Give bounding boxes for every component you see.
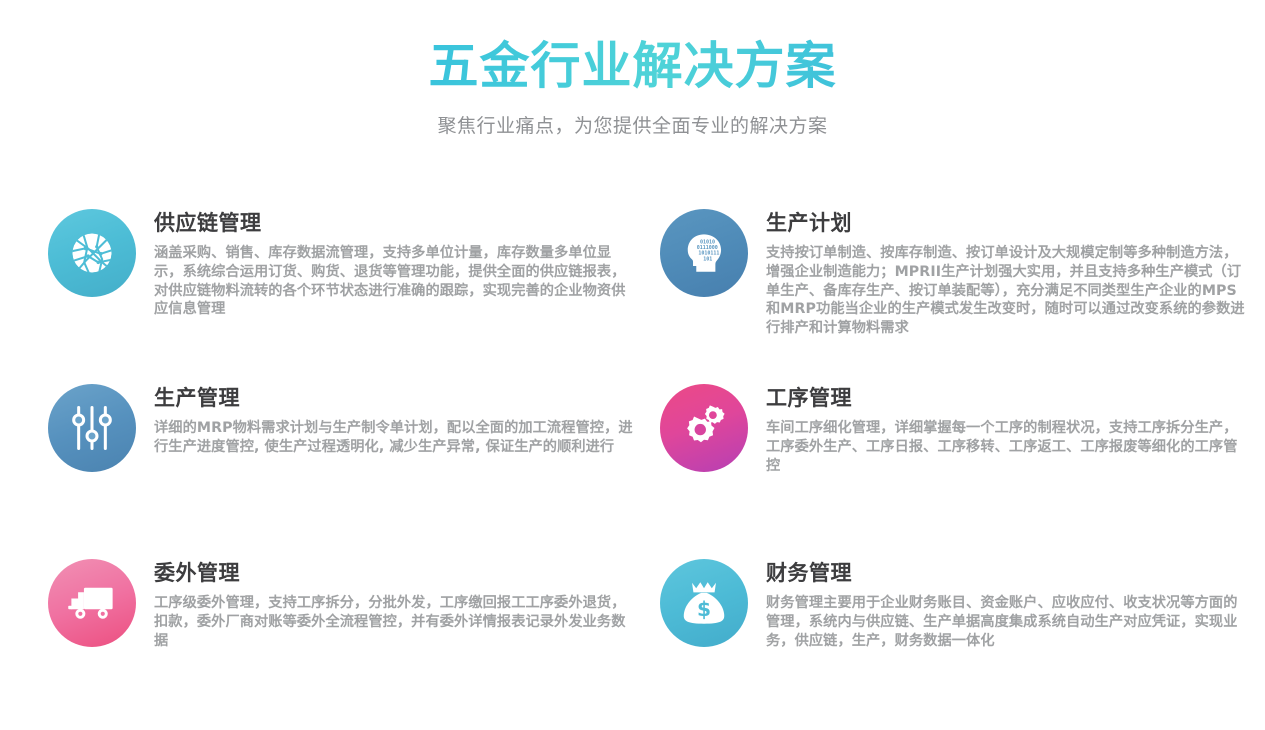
solution-card-description: 涵盖采购、销售、库存数据流管理，支持多单位计量，库存数量多单位显示，系统综合运用… [154,244,636,319]
svg-text:101: 101 [703,256,712,262]
solution-card-description: 车间工序细化管理，详细掌握每一个工序的制程状况，支持工序拆分生产，工序委外生产、… [766,419,1248,475]
sliders-icon [48,384,136,472]
solution-card-body: 财务管理 财务管理主要用于企业财务账目、资金账户、应收应付、收支状况等方面的管理… [766,555,1248,650]
solution-card-production-mgmt[interactable]: 生产管理 详细的MRP物料需求计划与生产制令单计划，配以全面的加工流程管控，进行… [48,380,660,555]
solution-card-supply-chain[interactable]: 供应链管理 涵盖采购、销售、库存数据流管理，支持多单位计量，库存数量多单位显示，… [48,205,660,380]
solution-card-title: 工序管理 [766,386,1248,410]
page-title: 五金行业解决方案 [0,38,1265,94]
solution-card-body: 供应链管理 涵盖采购、销售、库存数据流管理，支持多单位计量，库存数量多单位显示，… [154,205,636,319]
page-subtitle: 聚焦行业痛点，为您提供全面专业的解决方案 [0,111,1265,138]
solution-card-body: 生产管理 详细的MRP物料需求计划与生产制令单计划，配以全面的加工流程管控，进行… [154,380,636,457]
solution-card-title: 委外管理 [154,561,636,585]
solution-card-title: 财务管理 [766,561,1248,585]
solution-card-body: 委外管理 工序级委外管理，支持工序拆分，分批外发，工序缴回报工工序委外退货，扣款… [154,555,636,650]
gears-icon [660,384,748,472]
solutions-grid: 供应链管理 涵盖采购、销售、库存数据流管理，支持多单位计量，库存数量多单位显示，… [0,205,1265,730]
money-bag-icon: $ [660,559,748,647]
solution-card-description: 工序级委外管理，支持工序拆分，分批外发，工序缴回报工工序委外退货，扣款，委外厂商… [154,594,636,650]
solution-card-title: 供应链管理 [154,211,636,235]
solution-card-body: 生产计划 支持按订单制造、按库存制造、按订单设计及大规模定制等多种制造方法，增强… [766,205,1248,338]
solution-card-outsourcing[interactable]: 委外管理 工序级委外管理，支持工序拆分，分批外发，工序缴回报工工序委外退货，扣款… [48,555,660,730]
solution-card-title: 生产计划 [766,211,1248,235]
solution-card-production-plan[interactable]: 01010 0111000 1010111 101 生产计划 支持按订单制造、按… [660,205,1265,380]
solution-card-description: 详细的MRP物料需求计划与生产制令单计划，配以全面的加工流程管控，进行生产进度管… [154,419,636,456]
solution-card-process-mgmt[interactable]: 工序管理 车间工序细化管理，详细掌握每一个工序的制程状况，支持工序拆分生产，工序… [660,380,1265,555]
truck-icon [48,559,136,647]
globe-network-icon [48,209,136,297]
solution-card-finance[interactable]: $ 财务管理 财务管理主要用于企业财务账目、资金账户、应收应付、收支状况等方面的… [660,555,1265,730]
solution-card-title: 生产管理 [154,386,636,410]
svg-text:$: $ [697,597,711,621]
head-binary-icon: 01010 0111000 1010111 101 [660,209,748,297]
solution-card-description: 支持按订单制造、按库存制造、按订单设计及大规模定制等多种制造方法，增强企业制造能… [766,244,1248,338]
solution-card-body: 工序管理 车间工序细化管理，详细掌握每一个工序的制程状况，支持工序拆分生产，工序… [766,380,1248,475]
page-header: 五金行业解决方案 聚焦行业痛点，为您提供全面专业的解决方案 [0,0,1265,138]
solution-card-description: 财务管理主要用于企业财务账目、资金账户、应收应付、收支状况等方面的管理，系统内与… [766,594,1248,650]
